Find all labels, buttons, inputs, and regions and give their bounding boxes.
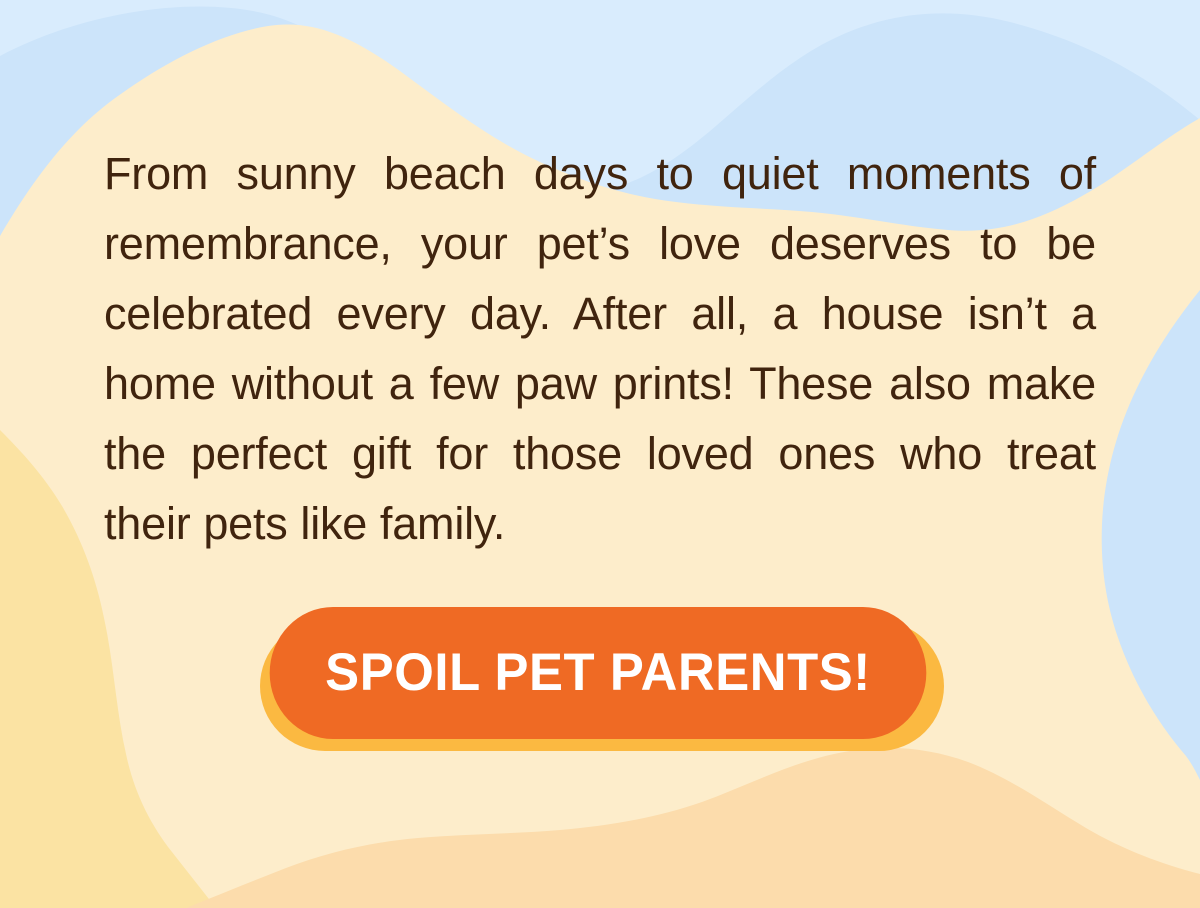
cta-container: SPOIL PET PARENTS!	[256, 607, 944, 755]
spoil-pet-parents-button[interactable]: SPOIL PET PARENTS!	[270, 607, 927, 739]
banner-content: From sunny beach days to quiet moments o…	[0, 0, 1200, 908]
promo-banner: From sunny beach days to quiet moments o…	[0, 0, 1200, 908]
body-paragraph: From sunny beach days to quiet moments o…	[104, 139, 1096, 559]
